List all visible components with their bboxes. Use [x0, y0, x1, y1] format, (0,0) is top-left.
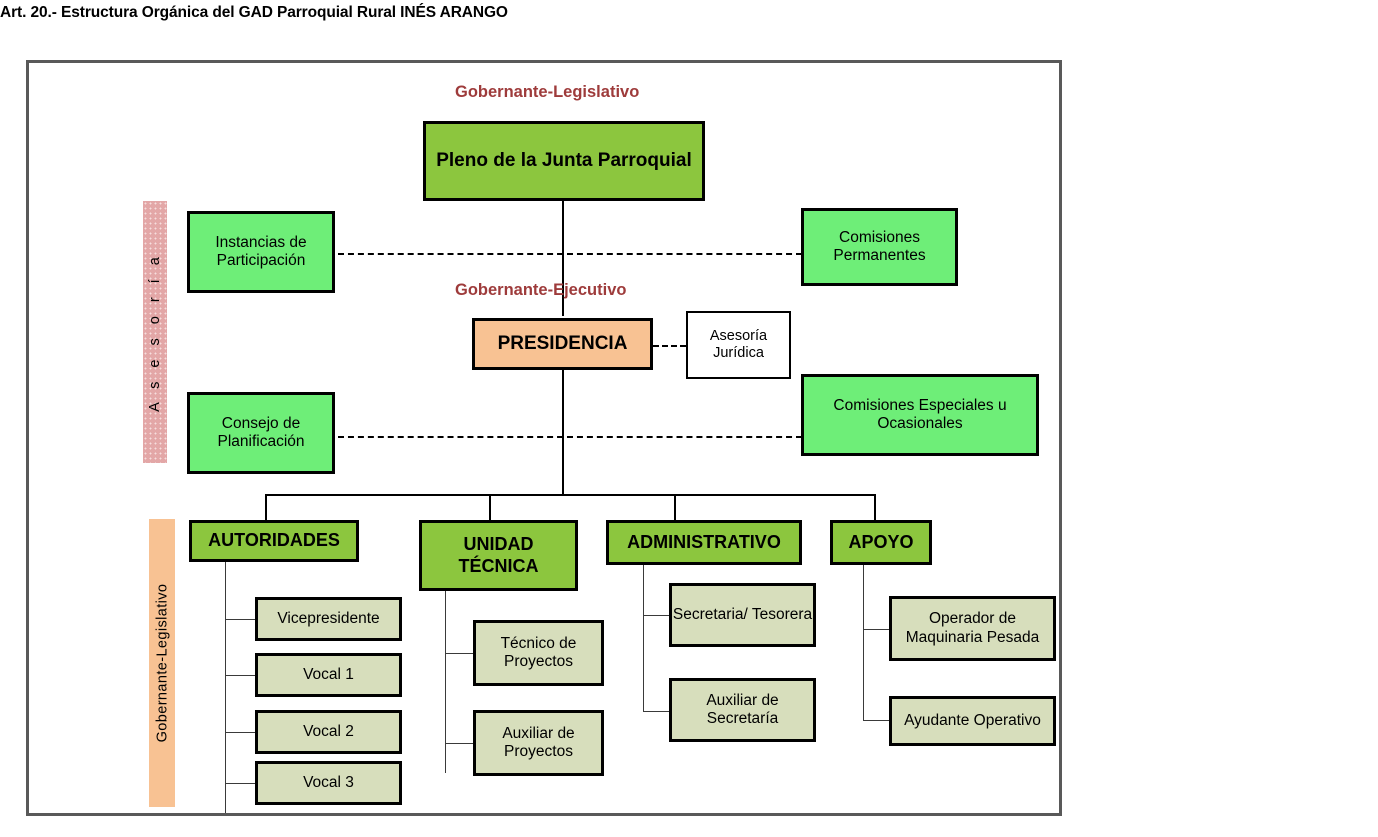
connector-autoridades-to-vocal-2 — [225, 732, 255, 733]
node-asesoria-juridica[interactable]: Asesoría Jurídica — [686, 311, 791, 379]
node-label: Comisiones Permanentes — [804, 229, 955, 266]
connector-bus-to-administrativo — [674, 494, 676, 521]
node-unidad-tecnica[interactable]: UNIDAD TÉCNICA — [419, 520, 578, 591]
connector-unidad-tecnica-trunk — [445, 588, 446, 773]
connector-autoridades-to-vocal-3 — [225, 783, 255, 784]
connector-unidad-to-auxiliar-proyectos — [445, 743, 473, 744]
node-label: Instancias de Participación — [190, 234, 332, 271]
connector-bus-to-apoyo — [874, 494, 876, 521]
node-label: Ayudante Operativo — [904, 712, 1041, 730]
node-secretaria-tesorera[interactable]: Secretaria/ Tesorera — [669, 583, 816, 647]
node-label: Pleno de la Junta Parroquial — [436, 150, 692, 172]
connector-bus-to-unidad-tecnica — [489, 494, 491, 521]
node-label: Auxiliar de Secretaría — [672, 692, 813, 729]
node-vocal-1[interactable]: Vocal 1 — [255, 653, 402, 697]
connector-administrativo-trunk — [643, 561, 644, 711]
node-auxiliar-de-proyectos[interactable]: Auxiliar de Proyectos — [473, 710, 604, 776]
sidebar-asesoria: A s e s o r í a — [143, 201, 167, 463]
node-instancias-de-participacion[interactable]: Instancias de Participación — [187, 211, 335, 293]
connector-admin-to-secretaria — [643, 615, 669, 616]
node-label: Secretaria/ Tesorera — [673, 606, 812, 624]
node-label: Consejo de Planificación — [190, 415, 332, 452]
connector-bus-to-autoridades — [265, 494, 267, 521]
node-label: Vocal 3 — [303, 774, 354, 792]
node-pleno-de-la-junta-parroquial[interactable]: Pleno de la Junta Parroquial — [423, 121, 705, 201]
node-label: AUTORIDADES — [208, 530, 340, 551]
connector-apoyo-trunk — [863, 561, 864, 721]
node-label: Comisiones Especiales u Ocasionales — [804, 397, 1036, 434]
connector-apoyo-to-operador — [863, 629, 889, 630]
node-comisiones-permanentes[interactable]: Comisiones Permanentes — [801, 208, 958, 286]
node-label: Operador de Maquinaria Pesada — [892, 610, 1053, 647]
node-ayudante-operativo[interactable]: Ayudante Operativo — [889, 696, 1056, 746]
node-label: Vocal 2 — [303, 723, 354, 741]
node-auxiliar-de-secretaria[interactable]: Auxiliar de Secretaría — [669, 678, 816, 742]
node-tecnico-de-proyectos[interactable]: Técnico de Proyectos — [473, 620, 604, 686]
connector-autoridades-trunk — [225, 558, 226, 813]
connector-instancias-to-comisiones-permanentes — [338, 253, 802, 255]
node-vocal-3[interactable]: Vocal 3 — [255, 761, 402, 805]
connector-presidencia-to-asesoria-juridica — [653, 345, 686, 347]
diagram-frame: A s e s o r í a Gobernante-Legislativo G… — [26, 60, 1062, 816]
connector-department-bus — [265, 494, 876, 496]
node-presidencia[interactable]: PRESIDENCIA — [472, 318, 653, 370]
connector-apoyo-to-ayudante — [863, 720, 889, 721]
sidebar-gobernante-legislativo: Gobernante-Legislativo — [149, 519, 175, 807]
connector-autoridades-to-vicepresidente — [225, 619, 255, 620]
node-operador-de-maquinaria-pesada[interactable]: Operador de Maquinaria Pesada — [889, 596, 1056, 661]
node-autoridades[interactable]: AUTORIDADES — [189, 520, 359, 562]
node-label: UNIDAD TÉCNICA — [422, 534, 575, 576]
node-label: Técnico de Proyectos — [476, 635, 601, 672]
sidebar-gobernante-legislativo-label: Gobernante-Legislativo — [154, 584, 170, 743]
connector-unidad-to-tecnico-proyectos — [445, 653, 473, 654]
connector-consejo-to-comisiones-especiales — [338, 436, 802, 438]
node-consejo-de-planificacion[interactable]: Consejo de Planificación — [187, 392, 335, 474]
node-label: Vicepresidente — [277, 610, 379, 628]
node-label: Asesoría Jurídica — [688, 328, 789, 362]
node-label: Auxiliar de Proyectos — [476, 725, 601, 762]
node-apoyo[interactable]: APOYO — [830, 520, 932, 565]
connector-presidencia-down — [562, 360, 564, 496]
sidebar-asesoria-label: A s e s o r í a — [147, 252, 163, 412]
node-vicepresidente[interactable]: Vicepresidente — [255, 597, 402, 641]
connector-autoridades-to-vocal-1 — [225, 675, 255, 676]
page-title: Art. 20.- Estructura Orgánica del GAD Pa… — [0, 4, 508, 22]
node-label: APOYO — [848, 532, 913, 553]
connector-admin-to-auxiliar-secretaria — [643, 711, 669, 712]
node-vocal-2[interactable]: Vocal 2 — [255, 710, 402, 754]
caption-gobernante-ejecutivo: Gobernante-Ejecutivo — [455, 281, 626, 300]
node-label: PRESIDENCIA — [498, 333, 628, 355]
caption-gobernante-legislativo: Gobernante-Legislativo — [455, 83, 639, 102]
node-label: Vocal 1 — [303, 666, 354, 684]
node-label: ADMINISTRATIVO — [627, 532, 781, 553]
node-comisiones-especiales-u-ocasionales[interactable]: Comisiones Especiales u Ocasionales — [801, 374, 1039, 456]
node-administrativo[interactable]: ADMINISTRATIVO — [606, 520, 802, 565]
